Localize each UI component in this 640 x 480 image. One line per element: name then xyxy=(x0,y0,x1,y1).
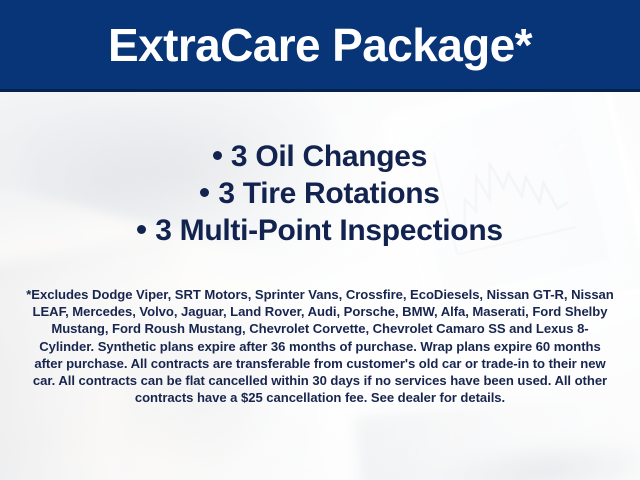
list-item: 3 Multi-Point Inspections xyxy=(0,212,640,249)
benefit-label: 3 Multi-Point Inspections xyxy=(155,214,503,247)
list-item: 3 Oil Changes xyxy=(0,138,640,175)
bullet-dot-icon xyxy=(213,151,222,160)
bullet-dot-icon xyxy=(137,225,146,234)
bullet-dot-icon xyxy=(200,188,209,197)
extracare-package-ad: ExtraCare Package* 3 Oil Changes 3 Tire … xyxy=(0,0,640,480)
disclaimer-text: *Excludes Dodge Viper, SRT Motors, Sprin… xyxy=(26,286,614,406)
benefits-list: 3 Oil Changes 3 Tire Rotations 3 Multi-P… xyxy=(0,138,640,249)
benefit-label: 3 Tire Rotations xyxy=(218,177,439,210)
header-band: ExtraCare Package* xyxy=(0,0,640,92)
benefit-label: 3 Oil Changes xyxy=(231,140,427,173)
page-title: ExtraCare Package* xyxy=(108,22,532,68)
list-item: 3 Tire Rotations xyxy=(0,175,640,212)
